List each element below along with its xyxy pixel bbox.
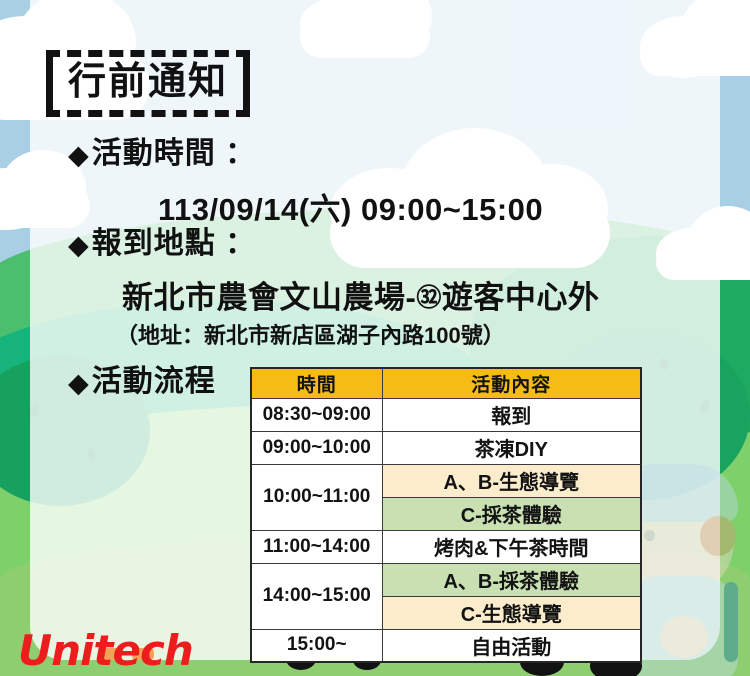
unitech-logo: Unitech [18,626,193,675]
activity-cell: 自由活動 [382,629,641,662]
time-cell: 14:00~15:00 [251,563,382,629]
table-row: 08:30~09:00報到 [251,398,641,431]
time-cell: 10:00~11:00 [251,464,382,530]
itinerary-label: 活動流程 [92,366,216,398]
diamond-bullet-icon: ◆ [68,232,89,259]
activity-cell: A、B-採茶體驗 [382,563,641,596]
check-in-location-label: 報到地點 ： [92,228,256,260]
schedule-table-body: 08:30~09:00報到09:00~10:00茶凍DIY10:00~11:00… [251,398,641,662]
venue-value: 新北市農會文山農場-㉜遊客中心外 [122,272,599,317]
venue-suffix: 遊客中心外 [442,280,600,315]
table-row: 15:00~自由活動 [251,629,641,662]
table-header-row: 時間 活動內容 [251,368,641,398]
event-time-value: 113/09/14(六) 09:00~15:00 [158,184,543,229]
activity-cell: C-採茶體驗 [382,497,641,530]
poster-canvas: 行前通知 ◆ 活動時間 ： 113/09/14(六) 09:00~15:00 ◆… [0,0,750,676]
venue-stop-number: ㉜ [416,278,442,314]
poster-content: 行前通知 ◆ 活動時間 ： 113/09/14(六) 09:00~15:00 ◆… [0,0,750,676]
table-row: 14:00~15:00A、B-採茶體驗 [251,563,641,596]
header-time: 時間 [251,368,382,398]
activity-cell: C-生態導覽 [382,596,641,629]
activity-cell: 茶凍DIY [382,431,641,464]
page-title: 行前通知 [68,61,228,104]
time-cell: 09:00~10:00 [251,431,382,464]
header-activity: 活動內容 [382,368,641,398]
section-check-in-location: ◆ 報到地點 ： [68,228,256,260]
time-cell: 11:00~14:00 [251,530,382,563]
table-row: 09:00~10:00茶凍DIY [251,431,641,464]
poster-title-box: 行前通知 [46,50,250,117]
section-event-time: ◆ 活動時間 ： [68,138,256,170]
activity-cell: 報到 [382,398,641,431]
section-itinerary: ◆ 活動流程 [68,366,216,398]
activity-cell: 烤肉&下午茶時間 [382,530,641,563]
venue-prefix: 新北市農會文山農場- [122,280,416,315]
table-row: 11:00~14:00烤肉&下午茶時間 [251,530,641,563]
schedule-table: 時間 活動內容 08:30~09:00報到09:00~10:00茶凍DIY10:… [250,367,642,663]
activity-cell: A、B-生態導覽 [382,464,641,497]
venue-address: （地址：新北市新店區湖子內路100號） [116,318,505,350]
diamond-bullet-icon: ◆ [68,370,89,397]
time-cell: 08:30~09:00 [251,398,382,431]
table-row: 10:00~11:00A、B-生態導覽 [251,464,641,497]
diamond-bullet-icon: ◆ [68,142,89,169]
event-time-label: 活動時間 ： [92,138,256,170]
time-cell: 15:00~ [251,629,382,662]
